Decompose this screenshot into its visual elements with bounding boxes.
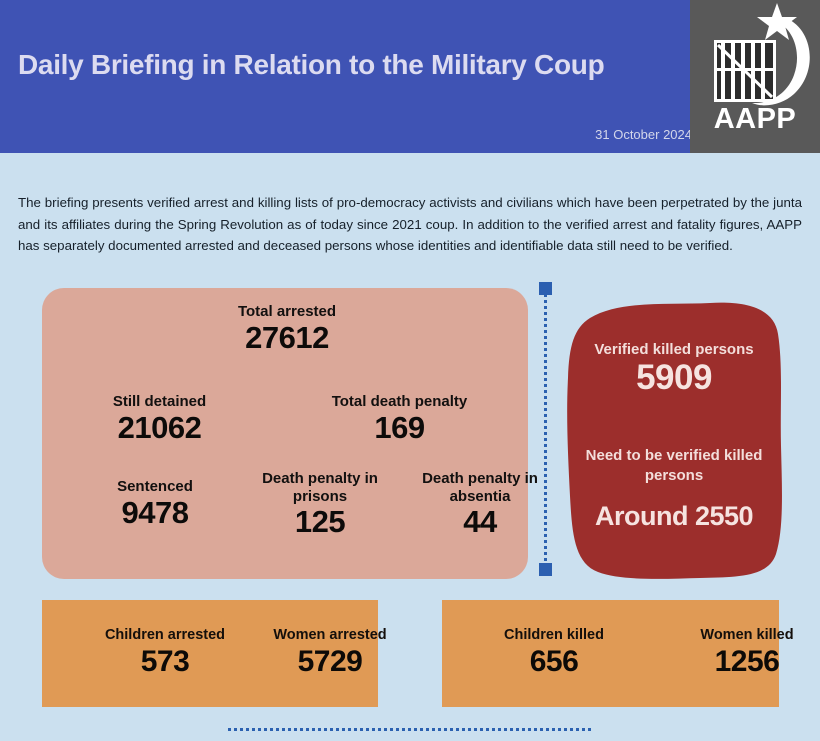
aapp-logo-block: AAPP	[690, 0, 820, 153]
stat-value: 21062	[72, 411, 247, 446]
stat-label: Still detained	[72, 393, 247, 411]
verified-killed-label: Verified killed persons	[560, 340, 788, 360]
stat-label: Women killed	[647, 627, 820, 644]
stat-death-penalty-in-absentia: Death penalty in absentia 44	[400, 470, 560, 540]
stat-women-arrested: Women arrested 5729	[230, 627, 430, 680]
stat-value: 27612	[182, 321, 392, 356]
logo-wordmark: AAPP	[690, 103, 820, 136]
stat-value: 656	[454, 644, 654, 680]
stat-total-arrested: Total arrested 27612	[182, 303, 392, 355]
stat-value: 9478	[70, 496, 240, 531]
stat-value: 125	[240, 505, 400, 540]
briefing-date: 31 October 2024	[595, 127, 692, 142]
arrest-statistics-panel: Total arrested 27612 Still detained 2106…	[42, 288, 528, 579]
horizontal-dotted-divider[interactable]	[228, 728, 593, 731]
stat-label: Death penalty in absentia	[400, 470, 560, 505]
stat-label: Total arrested	[182, 303, 392, 321]
stat-still-detained: Still detained 21062	[72, 393, 247, 445]
arrest-demographics-panel: Children arrested 573 Women arrested 572…	[42, 600, 378, 707]
stat-total-death-penalty: Total death penalty 169	[292, 393, 507, 445]
stat-label: Death penalty in prisons	[240, 470, 400, 505]
page-title: Daily Briefing in Relation to the Milita…	[18, 49, 678, 81]
stat-value: 44	[400, 505, 560, 540]
stat-label: Children killed	[454, 627, 654, 644]
divider-handle-top[interactable]	[539, 282, 552, 295]
stat-women-killed: Women killed 1256	[647, 627, 820, 680]
unverified-killed-label: Need to be verified killed persons	[560, 446, 788, 486]
stat-sentenced: Sentenced 9478	[70, 478, 240, 530]
stat-death-penalty-in-prisons: Death penalty in prisons 125	[240, 470, 400, 540]
killed-statistics-panel: Verified killed persons 5909 Need to be …	[560, 296, 788, 584]
vertical-dotted-divider[interactable]	[544, 288, 547, 576]
header-banner: Daily Briefing in Relation to the Milita…	[0, 0, 820, 153]
killed-demographics-panel: Children killed 656 Women killed 1256	[442, 600, 779, 707]
divider-handle-bottom[interactable]	[539, 563, 552, 576]
stat-value: 5729	[230, 644, 430, 680]
unverified-killed-value: Around 2550	[560, 501, 788, 531]
stat-value: 1256	[647, 644, 820, 680]
stat-value: 169	[292, 411, 507, 446]
stat-label: Sentenced	[70, 478, 240, 496]
aapp-star-crescent-prison-bars-logo	[690, 0, 820, 110]
stat-label: Women arrested	[230, 627, 430, 644]
infographic-page: Daily Briefing in Relation to the Milita…	[0, 0, 820, 741]
briefing-description: The briefing presents verified arrest an…	[18, 192, 802, 257]
stat-children-killed: Children killed 656	[454, 627, 654, 680]
verified-killed-value: 5909	[560, 358, 788, 397]
stat-label: Total death penalty	[292, 393, 507, 411]
killed-panel-content: Verified killed persons 5909 Need to be …	[560, 296, 788, 584]
